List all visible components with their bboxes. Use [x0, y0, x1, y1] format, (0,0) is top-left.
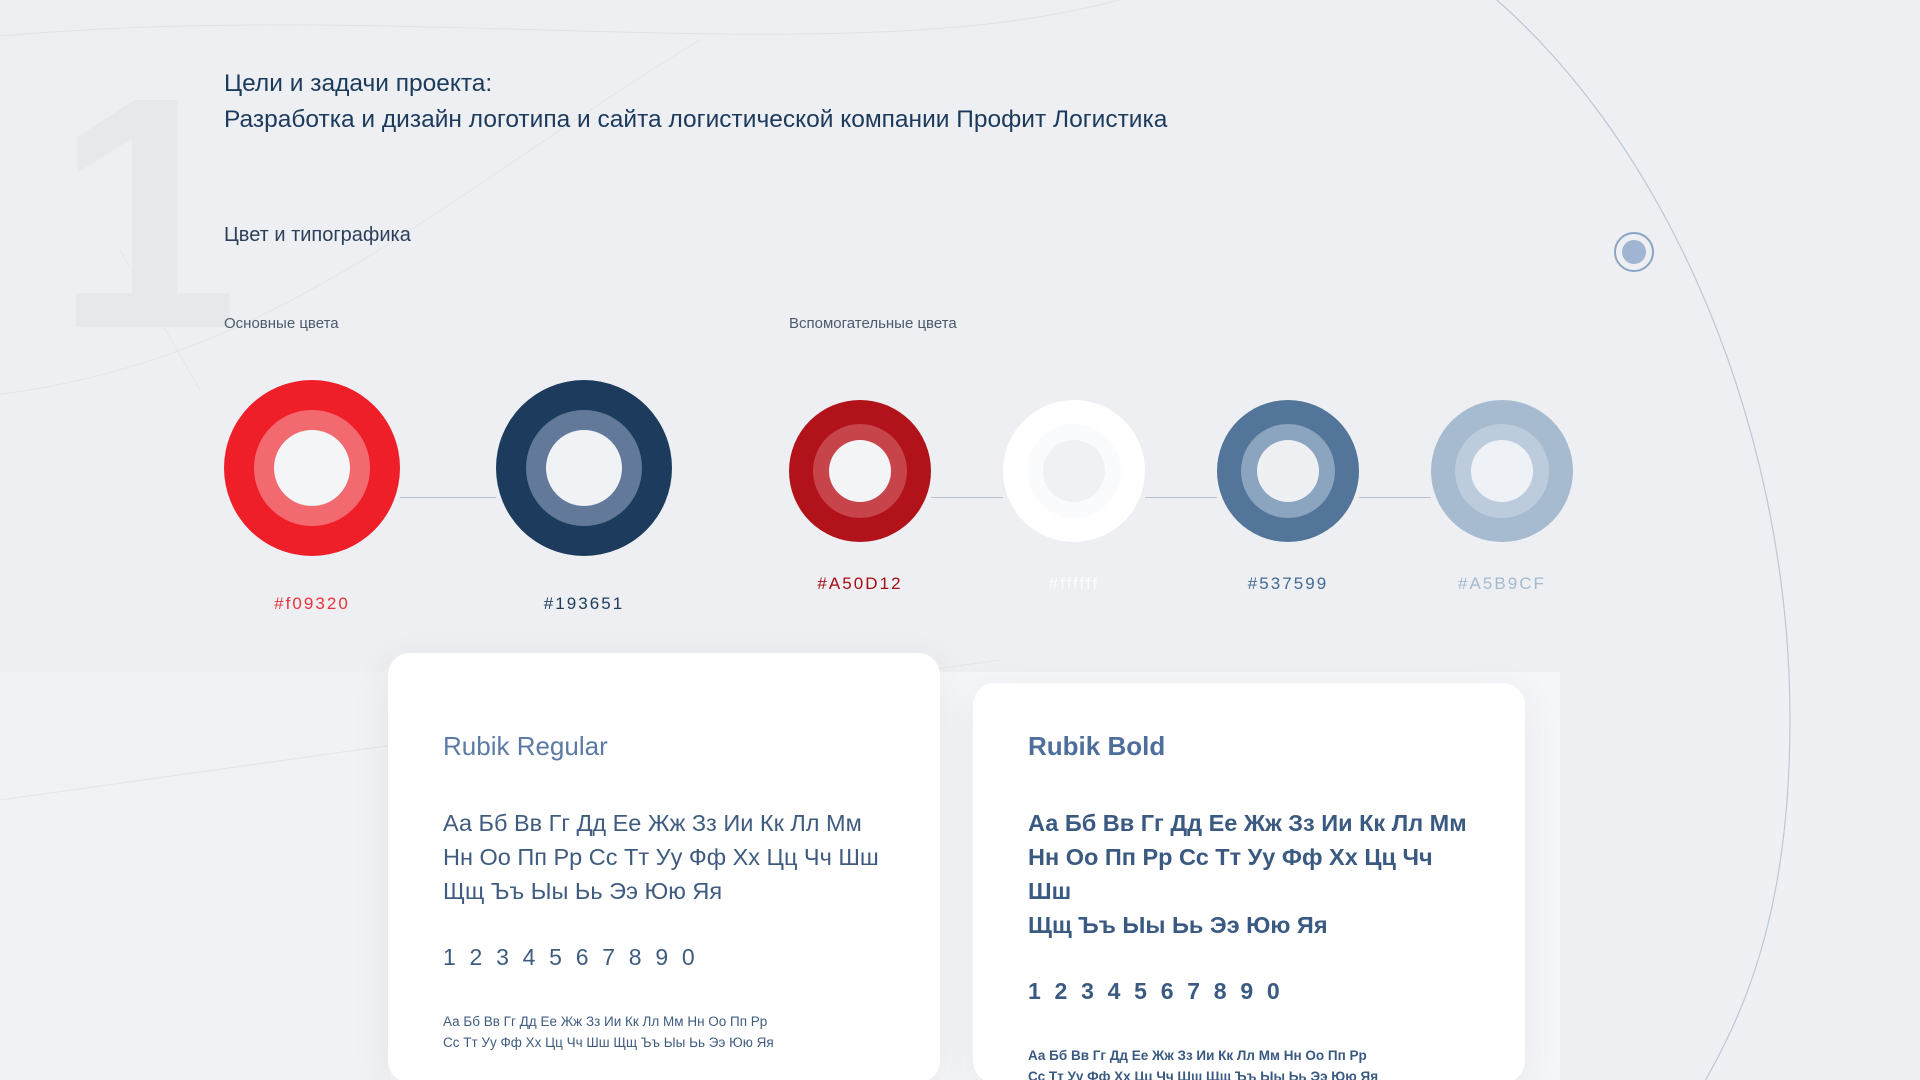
curve-node-dot	[1622, 240, 1646, 264]
color-hex-label: #A5B9CF	[1458, 574, 1546, 594]
color-swatch-donut	[1431, 400, 1573, 542]
typography-card-title: Rubik Bold	[1028, 731, 1470, 762]
color-swatch-mid-ring	[254, 410, 370, 526]
alphabet-small: Аа Бб Вв Гг Дд Ее Жж Зз Ии Кк Лл Мм Нн О…	[1028, 1045, 1470, 1080]
color-swatch-mid-ring	[813, 424, 907, 518]
swatch-connector-line	[1359, 497, 1431, 498]
color-hex-label: #537599	[1248, 574, 1328, 594]
background-lower-right-panel	[1560, 672, 1920, 1080]
numerals-sample: 1 2 3 4 5 6 7 8 9 0	[443, 944, 885, 971]
color-swatch[interactable]: #f09320	[224, 380, 400, 614]
numerals-sample: 1 2 3 4 5 6 7 8 9 0	[1028, 978, 1470, 1005]
slide-canvas: 1 Цели и задачи проекта: Разработка и ди…	[0, 0, 1920, 1080]
color-swatch-core	[1043, 440, 1105, 502]
slide-number-watermark: 1	[55, 48, 225, 378]
color-swatch-mid-ring	[1027, 424, 1121, 518]
secondary-colors-label: Вспомогательные цвета	[789, 315, 957, 332]
color-swatch[interactable]: #537599	[1217, 400, 1359, 594]
secondary-color-swatches: #A50D12#ffffff#537599#A5B9CF	[789, 400, 1573, 594]
color-hex-label: #f09320	[274, 594, 350, 614]
slide-header: Цели и задачи проекта: Разработка и диза…	[224, 66, 1424, 138]
color-hex-label: #193651	[544, 594, 624, 614]
color-swatch-mid-ring	[1241, 424, 1335, 518]
header-line-2: Разработка и дизайн логотипа и сайта лог…	[224, 102, 1424, 138]
color-swatch[interactable]: #A5B9CF	[1431, 400, 1573, 594]
color-hex-label: #ffffff	[1049, 574, 1100, 594]
swatch-connector-line	[1145, 497, 1217, 498]
typography-card-title: Rubik Regular	[443, 731, 885, 762]
swatch-connector-line	[931, 497, 1003, 498]
color-swatch[interactable]: #ffffff	[1003, 400, 1145, 594]
header-line-1: Цели и задачи проекта:	[224, 66, 1424, 102]
color-swatch-donut	[224, 380, 400, 556]
color-hex-label: #A50D12	[817, 574, 902, 594]
color-swatch-donut	[789, 400, 931, 542]
color-swatch-donut	[1217, 400, 1359, 542]
swatch-connector-line	[400, 497, 496, 498]
section-title: Цвет и типографика	[224, 224, 411, 247]
color-swatch-mid-ring	[1455, 424, 1549, 518]
primary-color-swatches: #f09320#193651	[224, 380, 672, 614]
background-lower-left-panel	[0, 672, 390, 1080]
primary-colors-label: Основные цвета	[224, 315, 339, 332]
color-swatch-core	[1471, 440, 1533, 502]
color-swatch-donut	[1003, 400, 1145, 542]
alphabet-small: Аа Бб Вв Гг Дд Ее Жж Зз Ии Кк Лл Мм Нн О…	[443, 1011, 885, 1053]
color-swatch-core	[829, 440, 891, 502]
alphabet-large: Аа Бб Вв Гг Дд Ее Жж Зз Ии Кк Лл Мм Нн О…	[1028, 806, 1470, 942]
color-swatch[interactable]: #193651	[496, 380, 672, 614]
color-swatch-core	[546, 430, 622, 506]
typography-card-bold: Rubik Bold Аа Бб Вв Гг Дд Ее Жж Зз Ии Кк…	[973, 683, 1525, 1080]
curve-node-marker-icon	[1614, 232, 1654, 272]
color-swatch[interactable]: #A50D12	[789, 400, 931, 594]
color-swatch-donut	[496, 380, 672, 556]
typography-card-regular: Rubik Regular Аа Бб Вв Гг Дд Ее Жж Зз Ии…	[388, 653, 940, 1080]
alphabet-large: Аа Бб Вв Гг Дд Ее Жж Зз Ии Кк Лл Мм Нн О…	[443, 806, 885, 908]
color-swatch-core	[1257, 440, 1319, 502]
color-swatch-mid-ring	[526, 410, 642, 526]
color-swatch-core	[274, 430, 350, 506]
